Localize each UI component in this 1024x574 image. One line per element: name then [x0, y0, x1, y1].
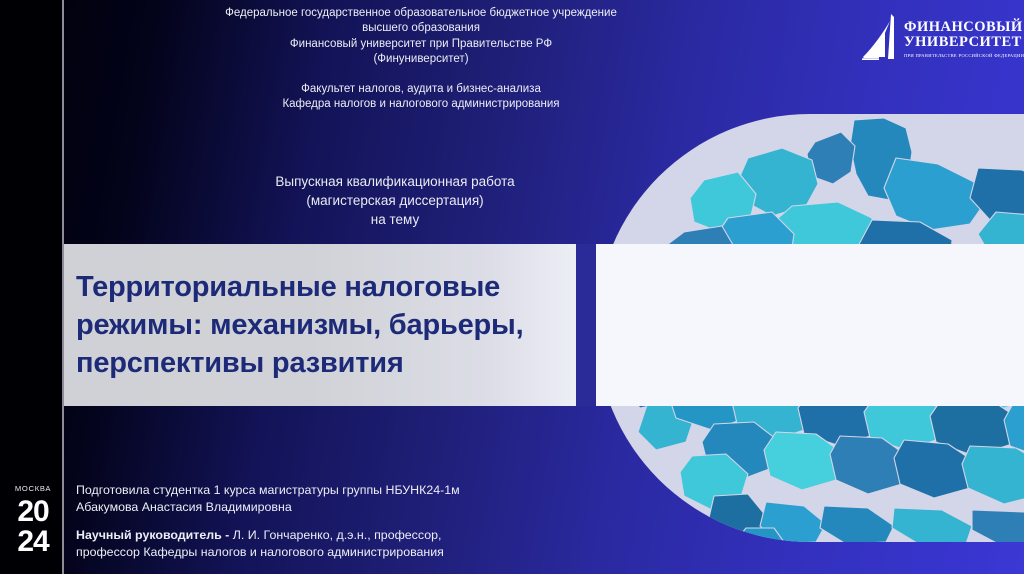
finuniversity-logo: ФИНАНСОВЫЙ УНИВЕРСИТЕТ ПРИ ПРАВИТЕЛЬСТВЕ…	[861, 10, 1019, 68]
presentation-slide: Федеральное государственное образователь…	[0, 0, 1024, 574]
city-label: МОСКВА	[6, 484, 60, 493]
page-title: Территориальные налоговые режимы: механи…	[76, 268, 616, 382]
subheader-line-1: Выпускная квалификационная работа	[90, 172, 700, 191]
institution-header: Федеральное государственное образователь…	[128, 6, 714, 113]
student-info: Подготовила студентка 1 курса магистрату…	[76, 482, 596, 515]
advisor-line-2: профессор Кафедры налогов и налогового а…	[76, 544, 616, 561]
header-line-2: высшего образования	[128, 21, 714, 36]
header-line-1: Федеральное государственное образователь…	[128, 6, 714, 21]
work-type-subheader: Выпускная квалификационная работа (магис…	[90, 172, 700, 229]
header-line-6: Кафедра налогов и налогового администрир…	[128, 97, 714, 112]
band-white-cap	[596, 244, 1024, 406]
header-line-3: Финансовый университет при Правительстве…	[128, 37, 714, 52]
logo-word-3: ПРИ ПРАВИТЕЛЬСТВЕ РОССИЙСКОЙ ФЕДЕРАЦИИ	[904, 52, 1024, 59]
vertical-divider-line	[62, 0, 64, 574]
advisor-name: Л. И. Гончаренко, д.э.н., профессор,	[229, 528, 441, 542]
advisor-label: Научный руководитель -	[76, 528, 229, 542]
year-top: 20	[6, 497, 60, 527]
student-line-1: Подготовила студентка 1 курса магистрату…	[76, 482, 596, 499]
student-line-2: Абакумова Анастасия Владимировна	[76, 499, 596, 516]
subheader-line-3: на тему	[90, 210, 700, 229]
subheader-line-2: (магистерская диссертация)	[90, 191, 700, 210]
year-label: 20 24	[6, 497, 60, 557]
advisor-info: Научный руководитель - Л. И. Гончаренко,…	[76, 527, 616, 560]
logo-word-2: УНИВЕРСИТЕТ	[904, 35, 1024, 51]
advisor-line-1: Научный руководитель - Л. И. Гончаренко,…	[76, 527, 616, 544]
header-spacer	[128, 67, 714, 82]
header-line-4: (Финуниверситет)	[128, 52, 714, 67]
logo-wordmark: ФИНАНСОВЫЙ УНИВЕРСИТЕТ ПРИ ПРАВИТЕЛЬСТВЕ…	[904, 20, 1024, 59]
year-bottom: 24	[6, 527, 60, 557]
header-line-5: Факультет налогов, аудита и бизнес-анали…	[128, 82, 714, 97]
sail-icon	[861, 13, 897, 65]
logo-word-1: ФИНАНСОВЫЙ	[904, 20, 1024, 36]
